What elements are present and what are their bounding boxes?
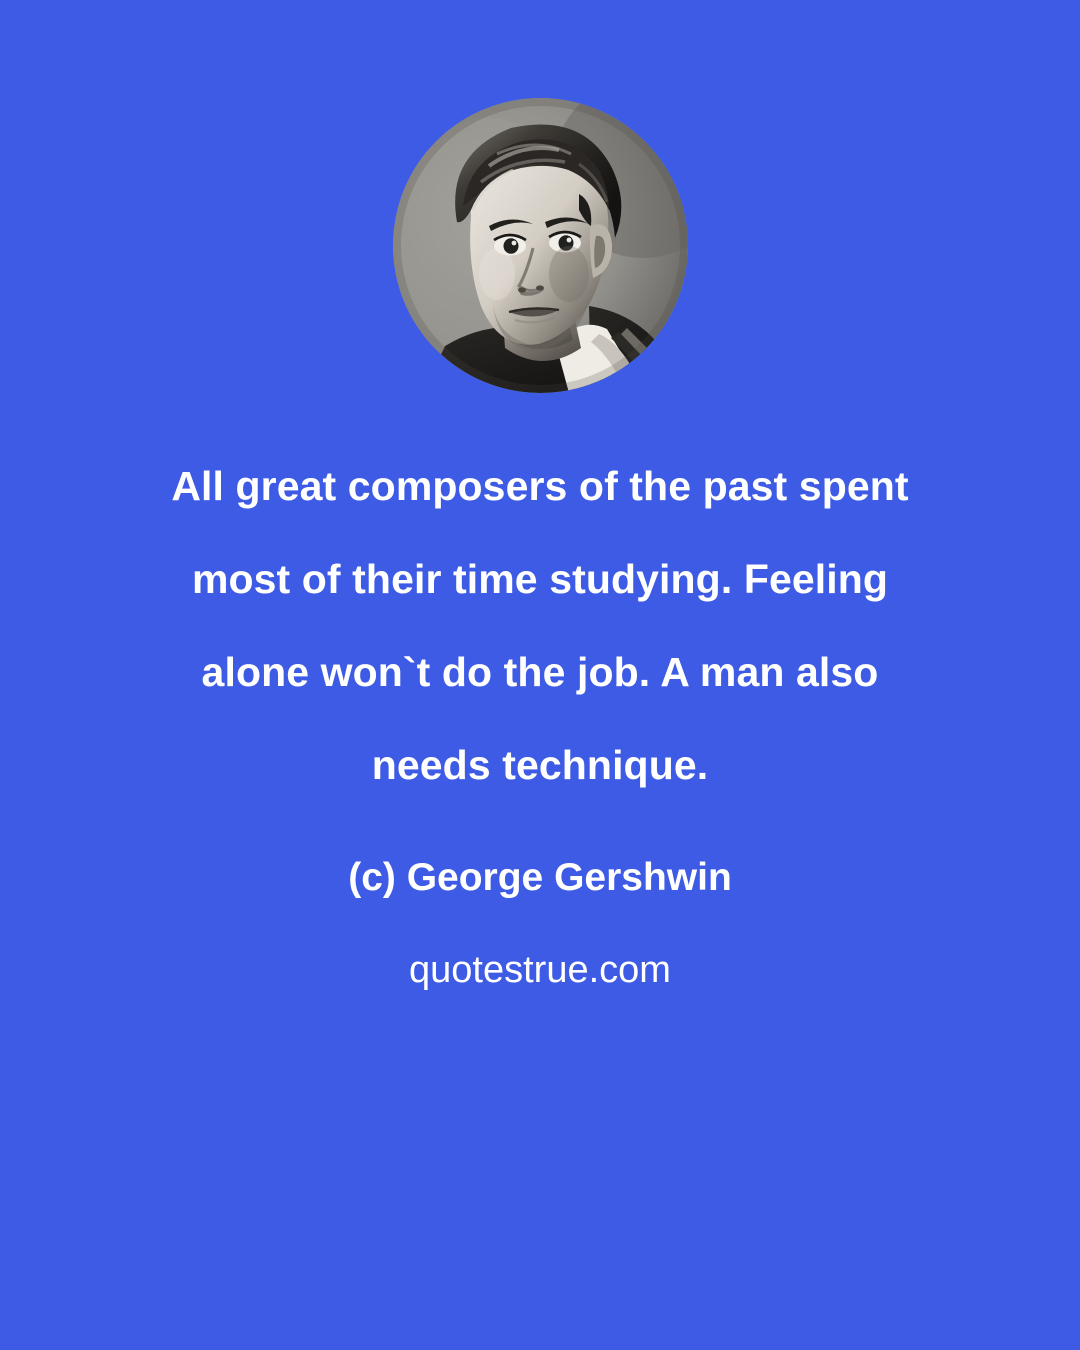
quote-line-3: alone won`t do the job. A man also [60, 626, 1020, 719]
quote-line-4: needs technique. [60, 719, 1020, 812]
quote-text: All great composers of the past spent mo… [60, 440, 1020, 812]
quote-line-1: All great composers of the past spent [60, 440, 1020, 533]
quote-card: All great composers of the past spent mo… [0, 0, 1080, 1350]
portrait-container [393, 98, 688, 393]
quote-line-2: most of their time studying. Feeling [60, 533, 1020, 626]
site-name: quotestrue.com [60, 924, 1020, 1016]
attribution: (c) George Gershwin quotestrue.com [60, 832, 1020, 1016]
portrait-photo [393, 98, 688, 393]
author-name: (c) George Gershwin [60, 832, 1020, 924]
